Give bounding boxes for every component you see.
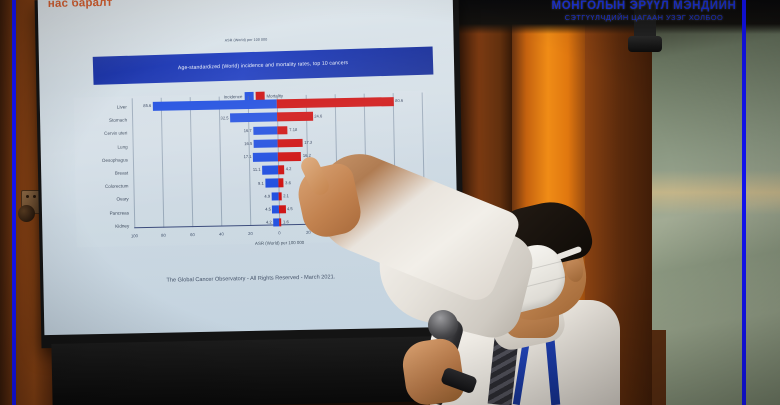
chart-bar-mortality (278, 179, 283, 188)
chart-value-incidence: 4.2 (266, 220, 272, 225)
chart-category-label: Lung (75, 140, 131, 154)
chart-value-mortality: 24.6 (314, 113, 322, 118)
chart-value-mortality: 4.5 (287, 206, 293, 211)
chart-value-incidence: 4.9 (264, 193, 270, 198)
chart-bar-mortality (279, 218, 281, 227)
chart-value-mortality: 17.3 (304, 140, 312, 145)
slide-title-line-2: нас баралт (48, 0, 456, 12)
chart-category-label: Colorectum (75, 179, 131, 193)
chart-x-tick: 60 (364, 229, 369, 234)
power-plug (18, 205, 35, 222)
chart-category-label: Oesophagus (75, 153, 131, 167)
chart-bar-incidence (262, 166, 278, 175)
chart-bar-mortality (277, 97, 394, 108)
chart-bar-incidence (253, 126, 277, 135)
chart-bar-mortality (278, 152, 302, 161)
chart-x-tick: 0 (278, 230, 280, 235)
wood-pillar-left (455, 0, 515, 405)
chart-bar-mortality (277, 126, 288, 135)
chart-x-tick: 40 (335, 229, 340, 234)
orange-pillar (512, 0, 592, 405)
chart-value-mortality: 2.1 (283, 193, 289, 198)
glass-wall-glow (652, 170, 780, 215)
ceiling-lamp-head (628, 36, 662, 52)
chart-value-incidence: 32.5 (220, 115, 228, 120)
overlay-line-right (742, 0, 746, 405)
chart-value-incidence: 11.1 (253, 167, 261, 172)
chart-bar-mortality (278, 139, 303, 148)
chart-bar-mortality (278, 165, 284, 174)
asr-top-note: ASR (World) per 100 000 (39, 34, 454, 46)
chart-category-label: Stomach (74, 114, 130, 128)
glass-wall-frame (652, 330, 666, 405)
chart-value-incidence: 17.1 (244, 154, 252, 159)
chart-category-label: Pancreas (76, 206, 132, 220)
chart-x-tick: 20 (248, 231, 253, 236)
overlay-line-left (12, 0, 16, 405)
chart-value-incidence: 85.6 (143, 103, 151, 108)
chart-bar-incidence (153, 100, 277, 111)
chart-x-axis-label: ASR (World) per 100 000 (135, 237, 425, 248)
watermark-line-1: МОНГОЛЫН ЭРҮҮЛ МЭНДИЙН (520, 1, 768, 13)
chart-source-footer: The Global Cancer Observatory - All Righ… (43, 272, 458, 286)
chart-value-mortality: 7.18 (289, 127, 297, 132)
slide-title: улсад зонхилон тохиолдох хорт хавдрын өв… (55, 0, 456, 12)
chart-value-mortality: 3.6 (285, 180, 291, 185)
chart-bar-incidence (253, 152, 278, 161)
projection-screen: улсад зонхилон тохиолдох хорт хавдрын өв… (38, 0, 460, 335)
chart-bar-incidence (254, 139, 278, 148)
slide-banner: Age-standardized (World) incidence and m… (93, 47, 434, 85)
photo-scene: улсад зонхилон тохиолдох хорт хавдрын өв… (0, 0, 780, 405)
chart-bar-rows: 85.680.632.524.616.77.1816.517.317.116.2… (132, 95, 425, 233)
chart-bar-incidence (265, 179, 278, 188)
chart-value-incidence: 16.7 (244, 128, 252, 133)
chart-category-label: Ovary (76, 193, 132, 207)
chart-x-tick: 100 (131, 233, 138, 238)
chart-axis-area: 85.680.632.524.616.77.1816.517.317.116.2… (132, 91, 425, 247)
watermark-line-2: СЭТГҮҮЛЧДИЙН ЦАГААН УЗЭГ ХОЛБОО (520, 14, 768, 21)
chart-bar-incidence (230, 113, 277, 123)
chart-value-mortality: 1.6 (283, 219, 289, 224)
watermark: МОНГОЛЫН ЭРҮҮЛ МЭНДИЙН СЭТГҮҮЛЧДИЙН ЦАГА… (520, 1, 768, 21)
chart-x-tick: 40 (219, 232, 224, 237)
chart-bar-mortality (277, 112, 313, 121)
chart-bar-mortality (279, 205, 286, 214)
chart-x-tick: 60 (190, 232, 195, 237)
chart-value-incidence: 4.5 (265, 206, 271, 211)
wood-pillar-right (585, 0, 660, 405)
chart-category-label: Liver (74, 100, 130, 114)
chart-value-mortality: 80.6 (395, 98, 403, 103)
chart-bar-mortality (279, 192, 282, 201)
chart-x-tick: 80 (161, 233, 166, 238)
chart-x-tick: 80 (393, 228, 398, 233)
chart-category-label: Cervix uteri (74, 127, 130, 141)
chart-category-label: Kidney (76, 219, 132, 233)
chart-x-tick: 100 (421, 227, 428, 232)
chart-value-mortality: 4.2 (286, 166, 292, 171)
slide-banner-text: Age-standardized (World) incidence and m… (93, 47, 434, 85)
chart-value-incidence: 16.5 (244, 141, 252, 146)
chart-category-label: Breast (75, 166, 131, 180)
chart-x-tick: 20 (306, 230, 311, 235)
chart: Incidence Mortality LiverStomachCervix u… (74, 90, 429, 247)
chart-value-mortality: 16.2 (303, 153, 311, 158)
chart-value-incidence: 9.1 (258, 180, 264, 185)
screen-stand (51, 336, 444, 405)
chart-category-labels: LiverStomachCervix uteriLungOesophagusBr… (74, 100, 133, 233)
